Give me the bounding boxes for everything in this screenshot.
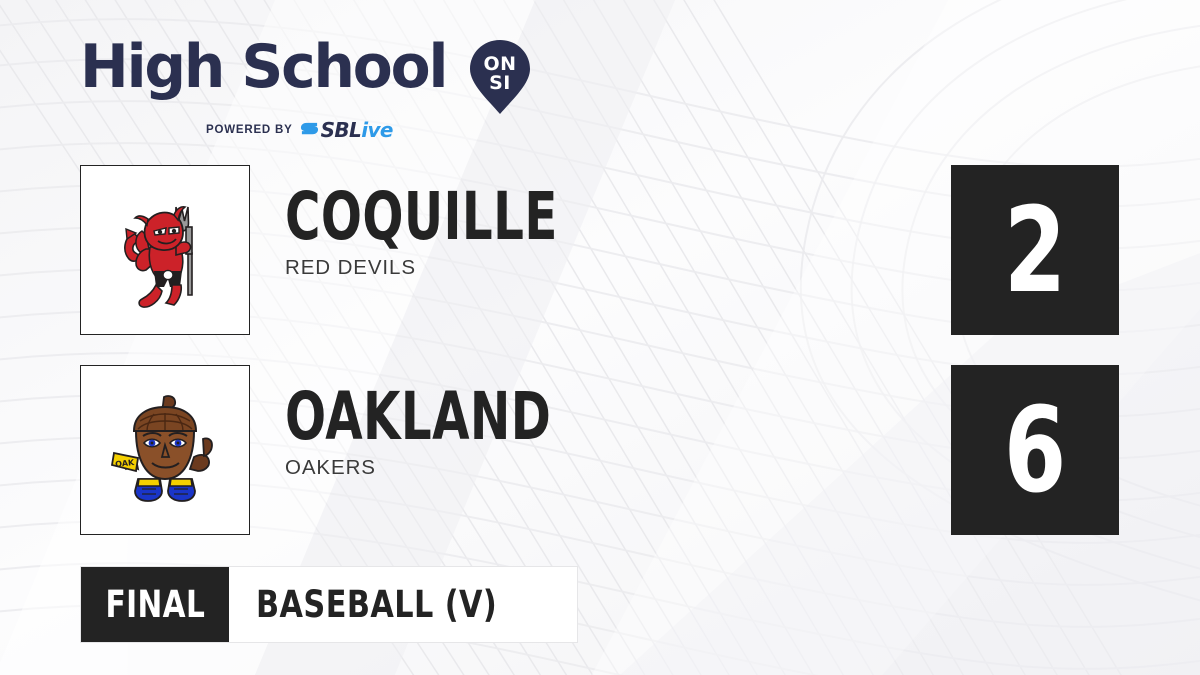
team-info: COQUILLE RED DEVILS xyxy=(285,183,635,280)
acorn-mascot-logo: OAK xyxy=(102,387,228,513)
sblive-wordmark: SBLive xyxy=(321,120,393,140)
sport-label-box: BASEBALL (V) xyxy=(229,567,577,642)
brand-row: High School ON SI xyxy=(80,36,532,116)
team-score-box: 2 xyxy=(951,165,1119,335)
scoreboard-card: High School ON SI POWERED BY SBLive xyxy=(0,0,1200,675)
pin-bottom-text: SI xyxy=(489,72,511,94)
sblive-s-mark-icon xyxy=(300,121,319,140)
status-badge: FINAL xyxy=(81,567,229,642)
sblive-logo: SBLive xyxy=(300,120,393,140)
powered-by-label: POWERED BY xyxy=(206,124,293,136)
team-name: OAKLAND xyxy=(285,383,551,451)
sblive-word-dark: SBL xyxy=(321,118,362,142)
brand-header: High School ON SI POWERED BY SBLive xyxy=(80,36,532,140)
status-state-label: FINAL xyxy=(105,583,205,626)
team-mascot: RED DEVILS xyxy=(285,256,635,280)
powered-by-row: POWERED BY SBLive xyxy=(80,120,532,140)
team-score: 6 xyxy=(1004,391,1066,509)
team-row: OAK xyxy=(0,365,1200,535)
team-row: COQUILLE RED DEVILS 2 xyxy=(0,165,1200,335)
sblive-word-light: ive xyxy=(361,118,393,142)
team-score-box: 6 xyxy=(951,365,1119,535)
brand-title: High School xyxy=(80,36,446,98)
team-info: OAKLAND OAKERS xyxy=(285,383,626,480)
team-logo-box[interactable]: OAK xyxy=(80,365,250,535)
red-devil-mascot-logo xyxy=(102,187,228,313)
game-status-bar: FINAL BASEBALL (V) xyxy=(80,566,578,643)
location-pin-icon: ON SI xyxy=(468,38,532,116)
team-logo-box[interactable] xyxy=(80,165,250,335)
team-score: 2 xyxy=(1004,191,1066,309)
sport-label: BASEBALL (V) xyxy=(256,583,497,626)
team-name: COQUILLE xyxy=(285,183,558,251)
team-mascot: OAKERS xyxy=(285,456,626,480)
